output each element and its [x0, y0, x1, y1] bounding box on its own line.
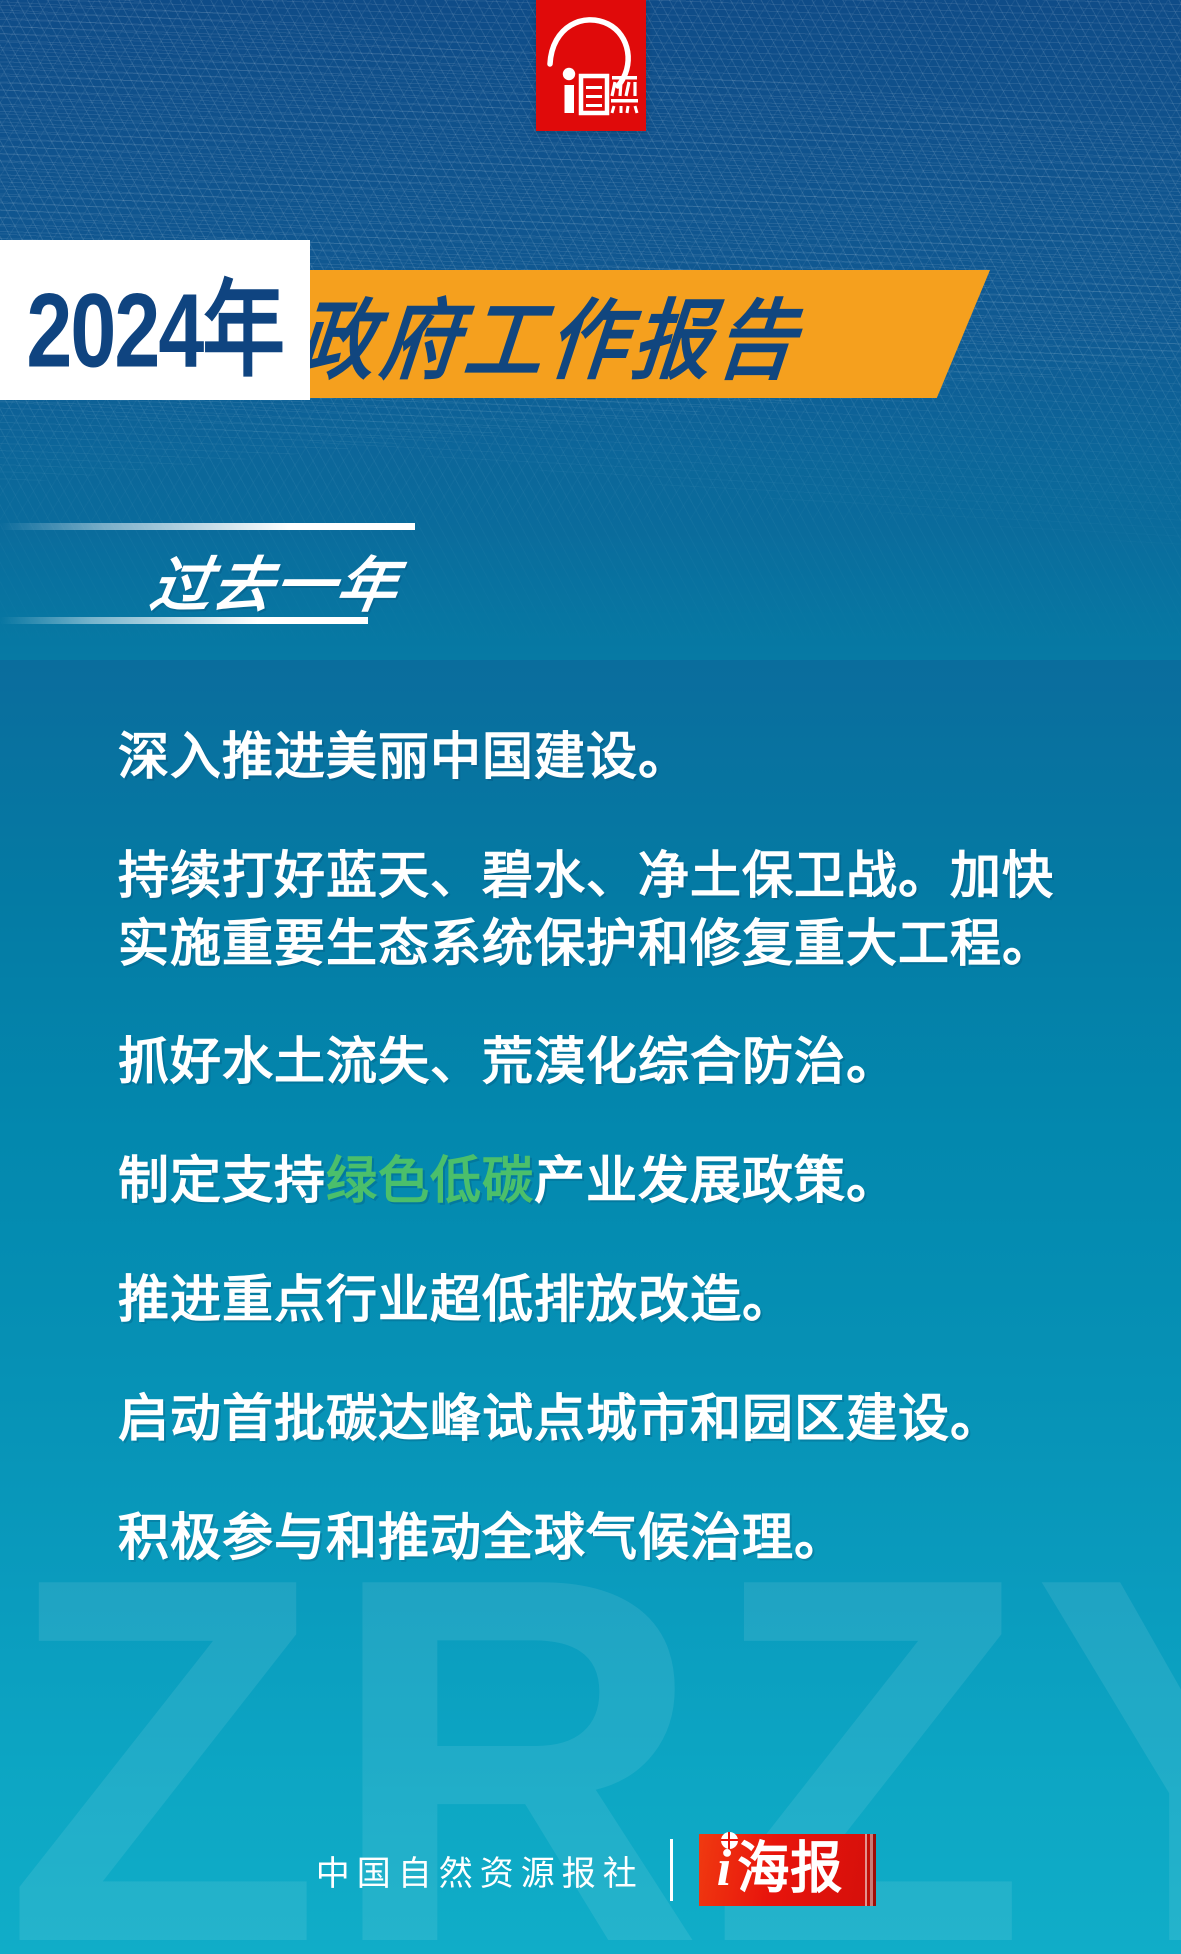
paragraph-6: 启动首批碳达峰试点城市和园区建设。 — [118, 1385, 1078, 1453]
footer: 中国自然资源报社 i 海报 — [0, 1834, 1181, 1906]
paragraph-1: 深入推进美丽中国建设。 — [118, 723, 1078, 791]
report-title: 政府工作报告 — [291, 271, 808, 396]
header-logo-area — [0, 0, 1181, 131]
poster-root: ZRZY — [0, 0, 1181, 1954]
globe-icon — [721, 1832, 738, 1849]
badge-i-letter: i — [717, 1843, 731, 1895]
paragraph-7: 积极参与和推动全球气候治理。 — [118, 1504, 1078, 1572]
paragraph-3: 抓好水土流失、荒漠化综合防治。 — [118, 1028, 1078, 1096]
paragraph-4-highlight: 绿色低碳 — [326, 1152, 534, 1209]
year-label: 2024年 — [27, 244, 284, 397]
section-label: 过去一年 — [145, 537, 407, 624]
body-content: 深入推进美丽中国建设。 持续打好蓝天、碧水、净土保卫战。加快实施重要生态系统保护… — [118, 672, 1078, 1572]
title-block: 政府工作报告 2024年 — [0, 240, 1181, 410]
section-rule-top — [0, 523, 415, 530]
footer-divider — [670, 1839, 673, 1901]
section-heading: 过去一年 — [0, 497, 700, 627]
iposter-badge-wrap: i 海报 — [699, 1834, 865, 1906]
paragraph-4-tail: 产业发展政策。 — [534, 1152, 898, 1209]
logo-graphic — [536, 0, 646, 131]
paragraph-2: 持续打好蓝天、碧水、净土保卫战。加快实施重要生态系统保护和修复重大工程。 — [118, 842, 1078, 978]
title-orange-band: 政府工作报告 — [230, 270, 990, 398]
year-badge: 2024年 — [0, 240, 310, 400]
publisher-name: 中国自然资源报社 — [316, 1846, 644, 1895]
paragraph-4-lead: 制定支持 — [118, 1152, 326, 1209]
iposter-badge: i 海报 — [699, 1834, 865, 1906]
paragraph-4: 制定支持绿色低碳产业发展政策。 — [118, 1147, 1078, 1215]
badge-label: 海报 — [737, 1841, 843, 1897]
izirán-logo — [536, 0, 646, 131]
paragraph-5: 推进重点行业超低排放改造。 — [118, 1266, 1078, 1334]
section-rule-bottom — [0, 617, 368, 624]
